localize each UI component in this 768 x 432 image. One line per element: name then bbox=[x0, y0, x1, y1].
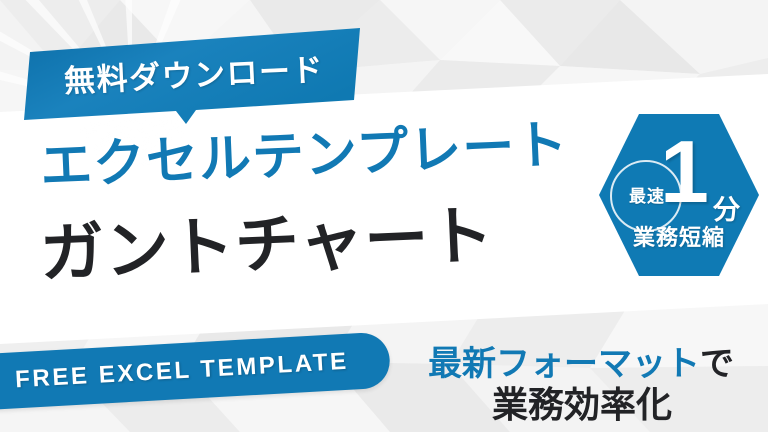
speed-hexagon-badge: 最速 1 分 業務短縮 bbox=[598, 112, 760, 278]
tagline-line-2: 業務効率化 bbox=[492, 376, 672, 428]
hex-subtitle: 業務短縮 bbox=[598, 220, 760, 252]
headline-line-2: ガントチャート bbox=[38, 184, 496, 295]
hex-number: 1 bbox=[660, 128, 709, 216]
tagline-particle: で bbox=[700, 345, 734, 383]
promo-banner: 無料ダウンロード エクセルテンプレート ガントチャート 最速 1 分 業務短縮 … bbox=[0, 0, 768, 432]
